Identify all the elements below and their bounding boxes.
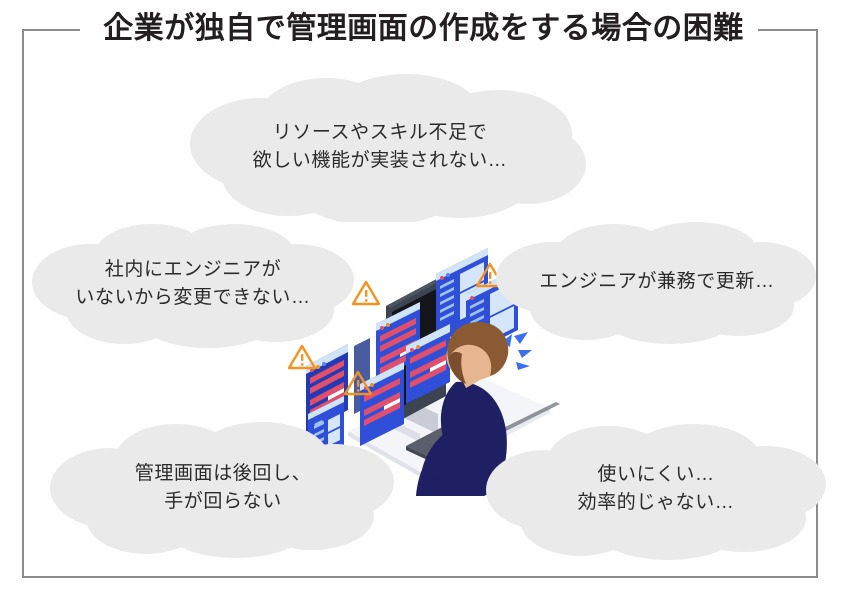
frame-border-bottom: [22, 576, 818, 578]
warning-triangle-icon: [365, 290, 368, 302]
thought-cloud-top: リソースやスキル不足で 欲しい機能が実装されない…: [168, 72, 592, 222]
warning-triangle-icon: [301, 354, 304, 366]
cloud-left-line1: 社内にエンジニアが: [105, 256, 281, 284]
thought-cloud-right-text: エンジニアが兼務で更新…: [492, 218, 822, 346]
thought-cloud-top-text: リソースやスキル不足で 欲しい機能が実装されない…: [168, 72, 592, 222]
cloud-bottom-right-line2: 効率的じゃない…: [578, 489, 735, 517]
frame-border-left: [22, 29, 24, 578]
cloud-right-line1: エンジニアが兼務で更新…: [539, 268, 774, 296]
thought-cloud-bottom-left-text: 管理画面は後回し、 手が回らない: [48, 418, 398, 558]
cloud-bottom-left-line2: 手が回らない: [164, 488, 282, 516]
thought-cloud-bottom-left: 管理画面は後回し、 手が回らない: [48, 418, 398, 558]
cloud-left-line2: いないから変更できない…: [75, 284, 310, 312]
thought-cloud-left: 社内にエンジニアが いないから変更できない…: [28, 218, 358, 350]
slide-canvas: 企業が独自で管理画面の作成をする場合の困難: [0, 0, 847, 593]
cloud-top-line1: リソースやスキル不足で: [273, 119, 488, 147]
cloud-top-line2: 欲しい機能が実装されない…: [253, 147, 508, 175]
warning-triangle-icon: [357, 380, 360, 392]
thought-cloud-left-text: 社内にエンジニアが いないから変更できない…: [28, 218, 358, 350]
thought-cloud-bottom-right: 使いにくい… 効率的じゃない…: [484, 418, 828, 560]
thought-cloud-right: エンジニアが兼務で更新…: [492, 218, 822, 346]
cloud-bottom-right-line1: 使いにくい…: [597, 461, 714, 489]
page-title: 企業が独自で管理画面の作成をする場合の困難: [0, 8, 847, 50]
cloud-bottom-left-line1: 管理画面は後回し、: [135, 460, 311, 488]
thought-cloud-bottom-right-text: 使いにくい… 効率的じゃない…: [484, 418, 828, 560]
